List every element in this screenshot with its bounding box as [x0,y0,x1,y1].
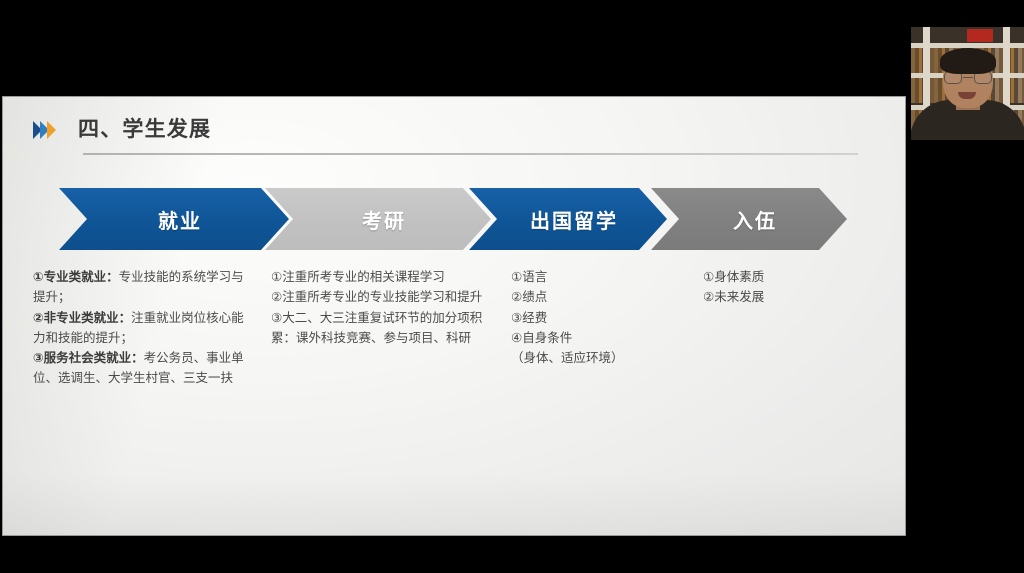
arrow-step-1-label: 就业 [158,205,202,234]
list-item-text: ②注重所考专业的专业技能学习和提升 [271,290,482,304]
list-item: ①身体素质 [703,267,863,287]
list-item: ③经费 [511,308,691,328]
list-item: ①注重所考专业的相关课程学习 [271,267,501,287]
list-item-text: ②绩点 [511,290,547,304]
list-item-term: ②非专业类就业： [33,311,131,325]
list-item: （身体、适应环境） [511,348,691,368]
presentation-slide: 四、学生发展 就业 考研 出国留学 入伍 ①专业类就业：专业技能的系统学习与提升… [3,97,905,535]
list-item: ②绩点 [511,287,691,307]
column-employment: ①专业类就业：专业技能的系统学习与提升；②非专业类就业：注重就业岗位核心能力和技… [33,267,248,389]
list-item: ②未来发展 [703,287,863,307]
arrow-step-4: 入伍 [651,188,847,250]
list-item-text: ③大二、大三注重复试环节的加分项积累：课外科技竞赛、参与项目、科研 [271,311,482,345]
arrow-step-3-label: 出国留学 [530,205,618,234]
list-item: ②非专业类就业：注重就业岗位核心能力和技能的提升； [33,308,248,349]
column-postgraduate: ①注重所考专业的相关课程学习②注重所考专业的专业技能学习和提升③大二、大三注重复… [271,267,501,348]
list-item: ②注重所考专业的专业技能学习和提升 [271,287,501,307]
glasses-bridge [963,77,973,78]
list-item-text: ②未来发展 [703,290,764,304]
column-study-abroad: ①语言②绩点③经费④自身条件（身体、适应环境） [511,267,691,368]
title-divider [83,153,858,155]
list-item: ①语言 [511,267,691,287]
arrow-step-4-label: 入伍 [733,205,777,234]
chevron-group-icon [33,121,54,139]
list-item-text: （身体、适应环境） [511,351,624,365]
list-item: ③大二、大三注重复试环节的加分项积累：课外科技竞赛、参与项目、科研 [271,308,501,349]
list-item-term: ③服务社会类就业： [33,351,144,365]
red-book [967,29,993,42]
list-item-text: ①语言 [511,270,547,284]
list-item-text: ③经费 [511,311,547,325]
page-title: 四、学生发展 [68,119,211,140]
list-item: ③服务社会类就业：考公务员、事业单位、选调生、大学生村官、三支一扶 [33,348,248,389]
list-item-text: ①身体素质 [703,270,764,284]
list-item: ④自身条件 [511,328,691,348]
arrow-step-1: 就业 [59,188,289,250]
list-item-text: ①注重所考专业的相关课程学习 [271,270,445,284]
presenter-figure [918,54,1018,140]
slide-title-row: 四、学生发展 [33,119,211,140]
presenter-hair [940,48,996,74]
list-item-text: ④自身条件 [511,331,572,345]
list-item-term: ①专业类就业： [33,270,119,284]
list-item: ①专业类就业：专业技能的系统学习与提升； [33,267,248,308]
arrow-step-2: 考研 [265,188,491,250]
chevron-orange-icon [47,121,56,139]
arrow-step-3: 出国留学 [469,188,667,250]
arrow-step-2-label: 考研 [362,205,406,234]
screen-share-stage: 四、学生发展 就业 考研 出国留学 入伍 ①专业类就业：专业技能的系统学习与提升… [0,0,1024,573]
column-military: ①身体素质②未来发展 [703,267,863,308]
process-arrow-banner: 就业 考研 出国留学 入伍 [3,188,905,250]
self-view-video[interactable] [911,27,1024,140]
